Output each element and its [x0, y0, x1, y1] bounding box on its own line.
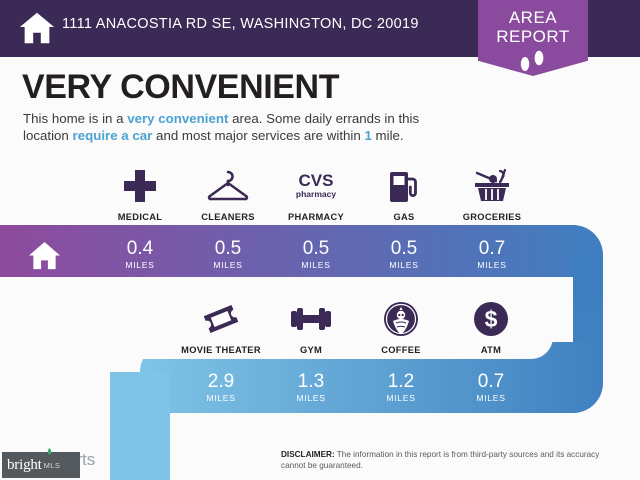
grocery-basket-icon	[448, 165, 536, 207]
amenity-label: GAS	[360, 212, 448, 222]
bright-mls-logo: bright MLS	[2, 452, 80, 478]
disclaimer-label: DISCLAIMER:	[281, 450, 335, 459]
amenity-label: MEDICAL	[96, 212, 184, 222]
desc-highlight-3: 1	[364, 128, 371, 143]
amenity-label: PHARMACY	[272, 212, 360, 222]
amenity-icon-row-primary: MEDICAL CLEANERS CVS pharmacy PHARMACY	[96, 165, 536, 222]
desc-highlight-2: require a car	[73, 128, 153, 143]
movie-ticket-icon	[176, 298, 266, 340]
brand-subtitle: MLS	[44, 461, 61, 470]
amenity-icon-row-secondary: MOVIE THEATER GYM	[176, 298, 536, 355]
amenity-pharmacy: CVS pharmacy PHARMACY	[272, 165, 360, 222]
disclaimer-text: DISCLAIMER: The information in this repo…	[281, 450, 611, 471]
amenity-label: ATM	[446, 345, 536, 355]
desc-highlight-1: very convenient	[127, 111, 228, 126]
dumbbell-icon	[266, 298, 356, 340]
badge-line-1: AREA	[478, 8, 588, 27]
amenity-movie-theater: MOVIE THEATER	[176, 298, 266, 355]
leaf-icon	[45, 447, 54, 456]
svg-text:$: $	[485, 306, 498, 332]
area-report-badge: AREA REPORT	[478, 0, 588, 76]
desc-part-4: mile.	[372, 128, 404, 143]
amenity-label: GYM	[266, 345, 356, 355]
desc-part-3: and most major services are within	[152, 128, 364, 143]
cvs-pharmacy-icon: CVS pharmacy	[272, 165, 360, 207]
badge-line-2: REPORT	[478, 27, 588, 46]
distance-bar-row-1	[0, 225, 603, 277]
home-icon	[28, 240, 61, 271]
svg-text:pharmacy: pharmacy	[296, 189, 336, 199]
svg-text:CVS: CVS	[299, 171, 334, 190]
amenity-gas: GAS	[360, 165, 448, 222]
amenity-label: CLEANERS	[184, 212, 272, 222]
footprints-icon	[516, 48, 550, 72]
brand-name: bright	[7, 457, 42, 474]
page-title: VERY CONVENIENT	[22, 68, 339, 107]
amenity-gym: GYM	[266, 298, 356, 355]
starbucks-icon	[356, 298, 446, 340]
clothes-hanger-icon	[184, 165, 272, 207]
amenity-label: MOVIE THEATER	[176, 345, 266, 355]
amenity-atm: $ ATM	[446, 298, 536, 355]
dollar-coin-icon: $	[446, 298, 536, 340]
amenity-coffee: COFFEE	[356, 298, 446, 355]
amenity-cleaners: CLEANERS	[184, 165, 272, 222]
amenity-label: GROCERIES	[448, 212, 536, 222]
medical-cross-icon	[96, 165, 184, 207]
home-icon	[18, 9, 56, 47]
amenity-label: COFFEE	[356, 345, 446, 355]
description-text: This home is in a very convenient area. …	[23, 110, 453, 144]
amenity-groceries: GROCERIES	[448, 165, 536, 222]
property-address: 1111 ANACOSTIA RD SE, WASHINGTON, DC 200…	[62, 16, 419, 32]
desc-part-1: This home is in a	[23, 111, 127, 126]
gas-pump-icon	[360, 165, 448, 207]
amenity-medical: MEDICAL	[96, 165, 184, 222]
